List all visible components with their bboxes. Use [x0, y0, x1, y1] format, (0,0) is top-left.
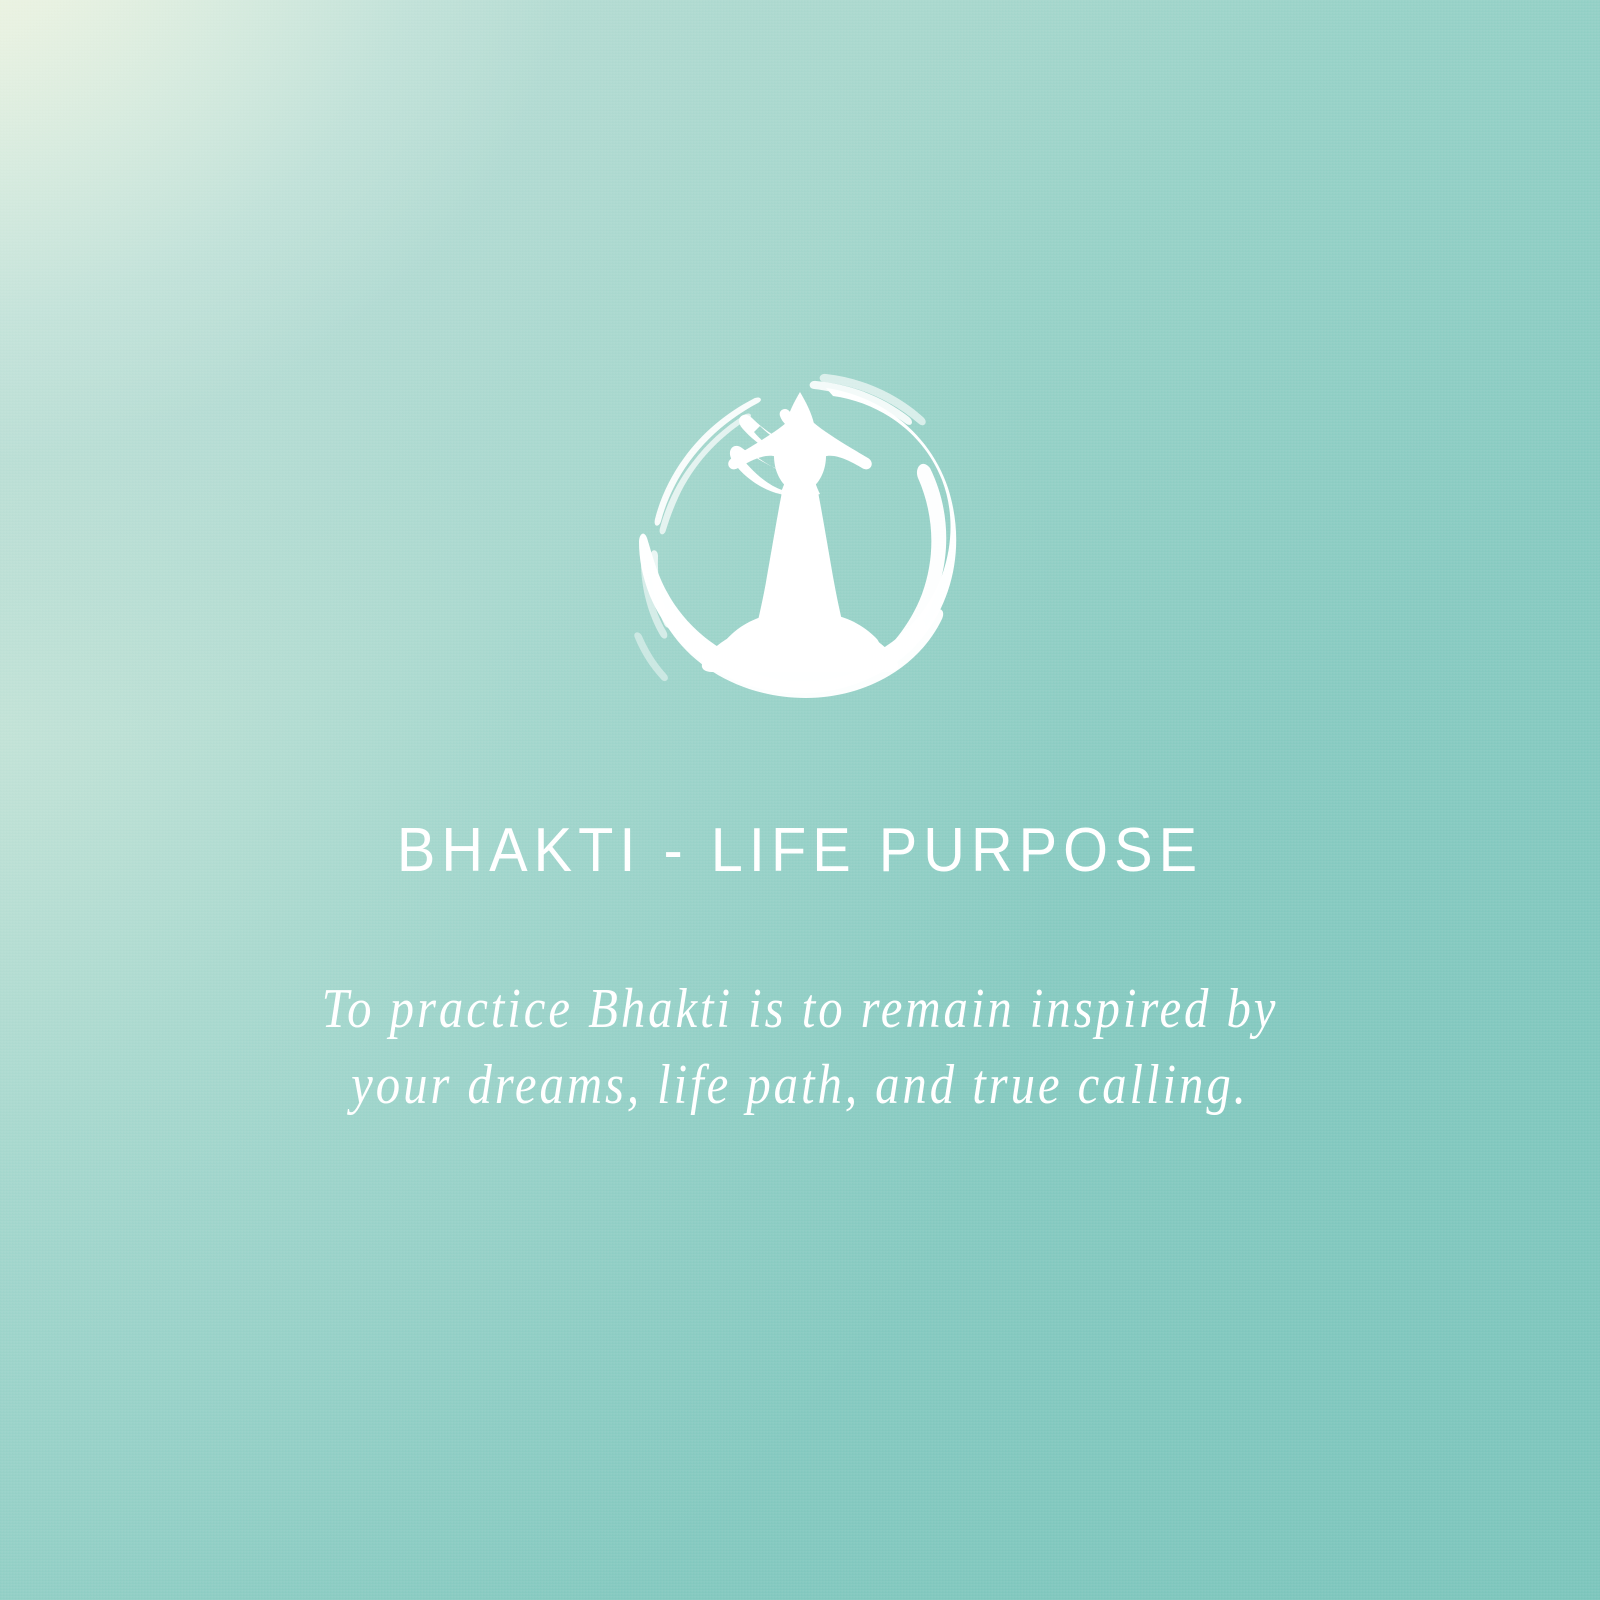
quote-block: To practice Bhakti is to remain inspired…: [64, 971, 1536, 1124]
bhakti-life-purpose-card: BHAKTI - LIFE PURPOSE To practice Bhakti…: [0, 0, 1600, 1600]
card-content: BHAKTI - LIFE PURPOSE To practice Bhakti…: [0, 0, 1600, 1600]
quote-line-2: your dreams, life path, and true calling…: [64, 1047, 1536, 1123]
enso-circle-meditating-figure-icon: [630, 372, 970, 702]
enso-meditation-logo: [630, 372, 970, 702]
quote-line-1: To practice Bhakti is to remain inspired…: [64, 971, 1536, 1047]
page-title: BHAKTI - LIFE PURPOSE: [56, 818, 1544, 883]
